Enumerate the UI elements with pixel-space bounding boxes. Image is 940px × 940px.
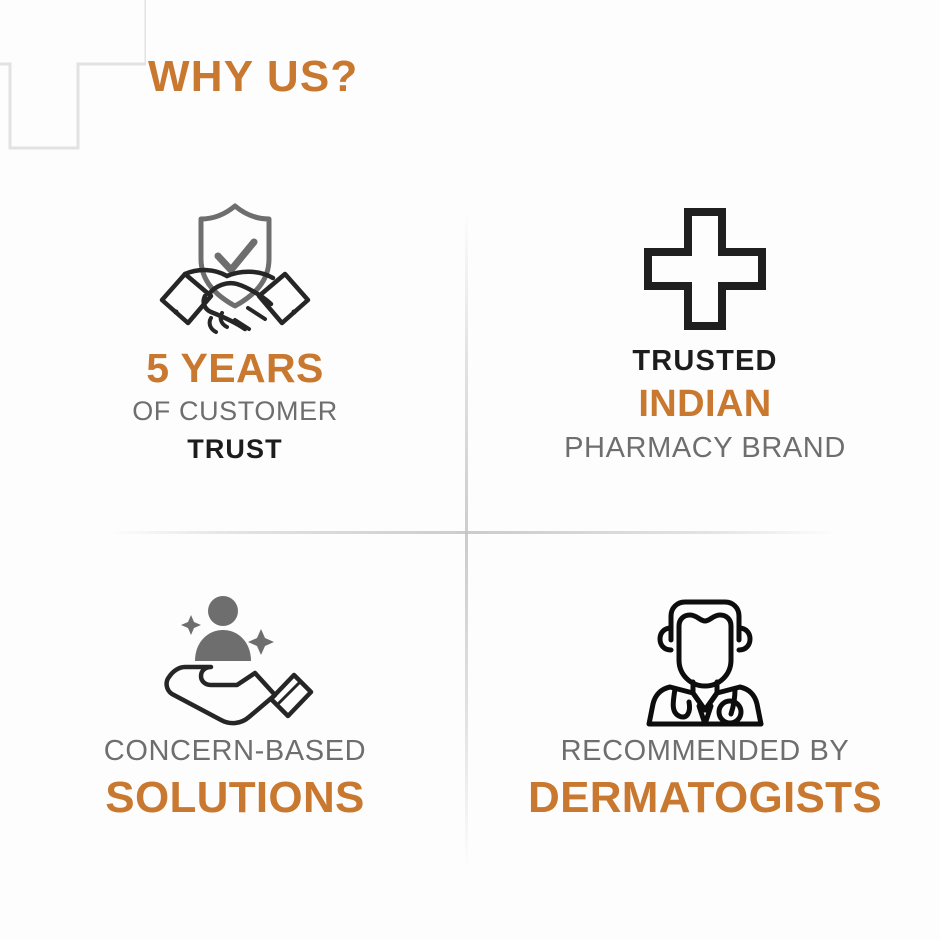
why-us-poster: WHY US?: [0, 0, 940, 940]
feature-line: INDIAN: [564, 382, 846, 427]
feature-line: DERMATOGISTS: [528, 772, 882, 824]
hand-holding-person-icon: [155, 584, 315, 734]
feature-text: RECOMMENDED BY DERMATOGISTS: [528, 734, 882, 824]
handshake-shield-icon: [149, 194, 321, 344]
medical-cross-icon: [640, 194, 770, 344]
feature-line: TRUSTED: [564, 344, 846, 378]
feature-text: TRUSTED INDIAN PHARMACY BRAND: [564, 344, 846, 465]
decorative-cross-icon: [0, 0, 146, 160]
feature-line: OF CUSTOMER: [132, 396, 338, 428]
feature-text: CONCERN-BASED SOLUTIONS: [104, 734, 366, 824]
feature-text: 5 YEARS OF CUSTOMER TRUST: [132, 344, 338, 466]
feature-line: TRUST: [132, 434, 338, 466]
feature-line: SOLUTIONS: [104, 772, 366, 824]
feature-line: PHARMACY BRAND: [564, 431, 846, 465]
feature-card-dermatologists: RECOMMENDED BY DERMATOGISTS: [470, 540, 940, 900]
feature-card-concern-solutions: CONCERN-BASED SOLUTIONS: [0, 540, 470, 900]
page-title: WHY US?: [148, 55, 358, 99]
feature-line: 5 YEARS: [132, 344, 338, 392]
doctor-stethoscope-icon: [635, 584, 775, 734]
feature-line: RECOMMENDED BY: [528, 734, 882, 768]
feature-card-indian-pharmacy: TRUSTED INDIAN PHARMACY BRAND: [470, 180, 940, 540]
feature-card-years-of-trust: 5 YEARS OF CUSTOMER TRUST: [0, 180, 470, 540]
feature-grid: 5 YEARS OF CUSTOMER TRUST TRUSTED INDIAN…: [0, 180, 940, 900]
feature-line: CONCERN-BASED: [104, 734, 366, 768]
